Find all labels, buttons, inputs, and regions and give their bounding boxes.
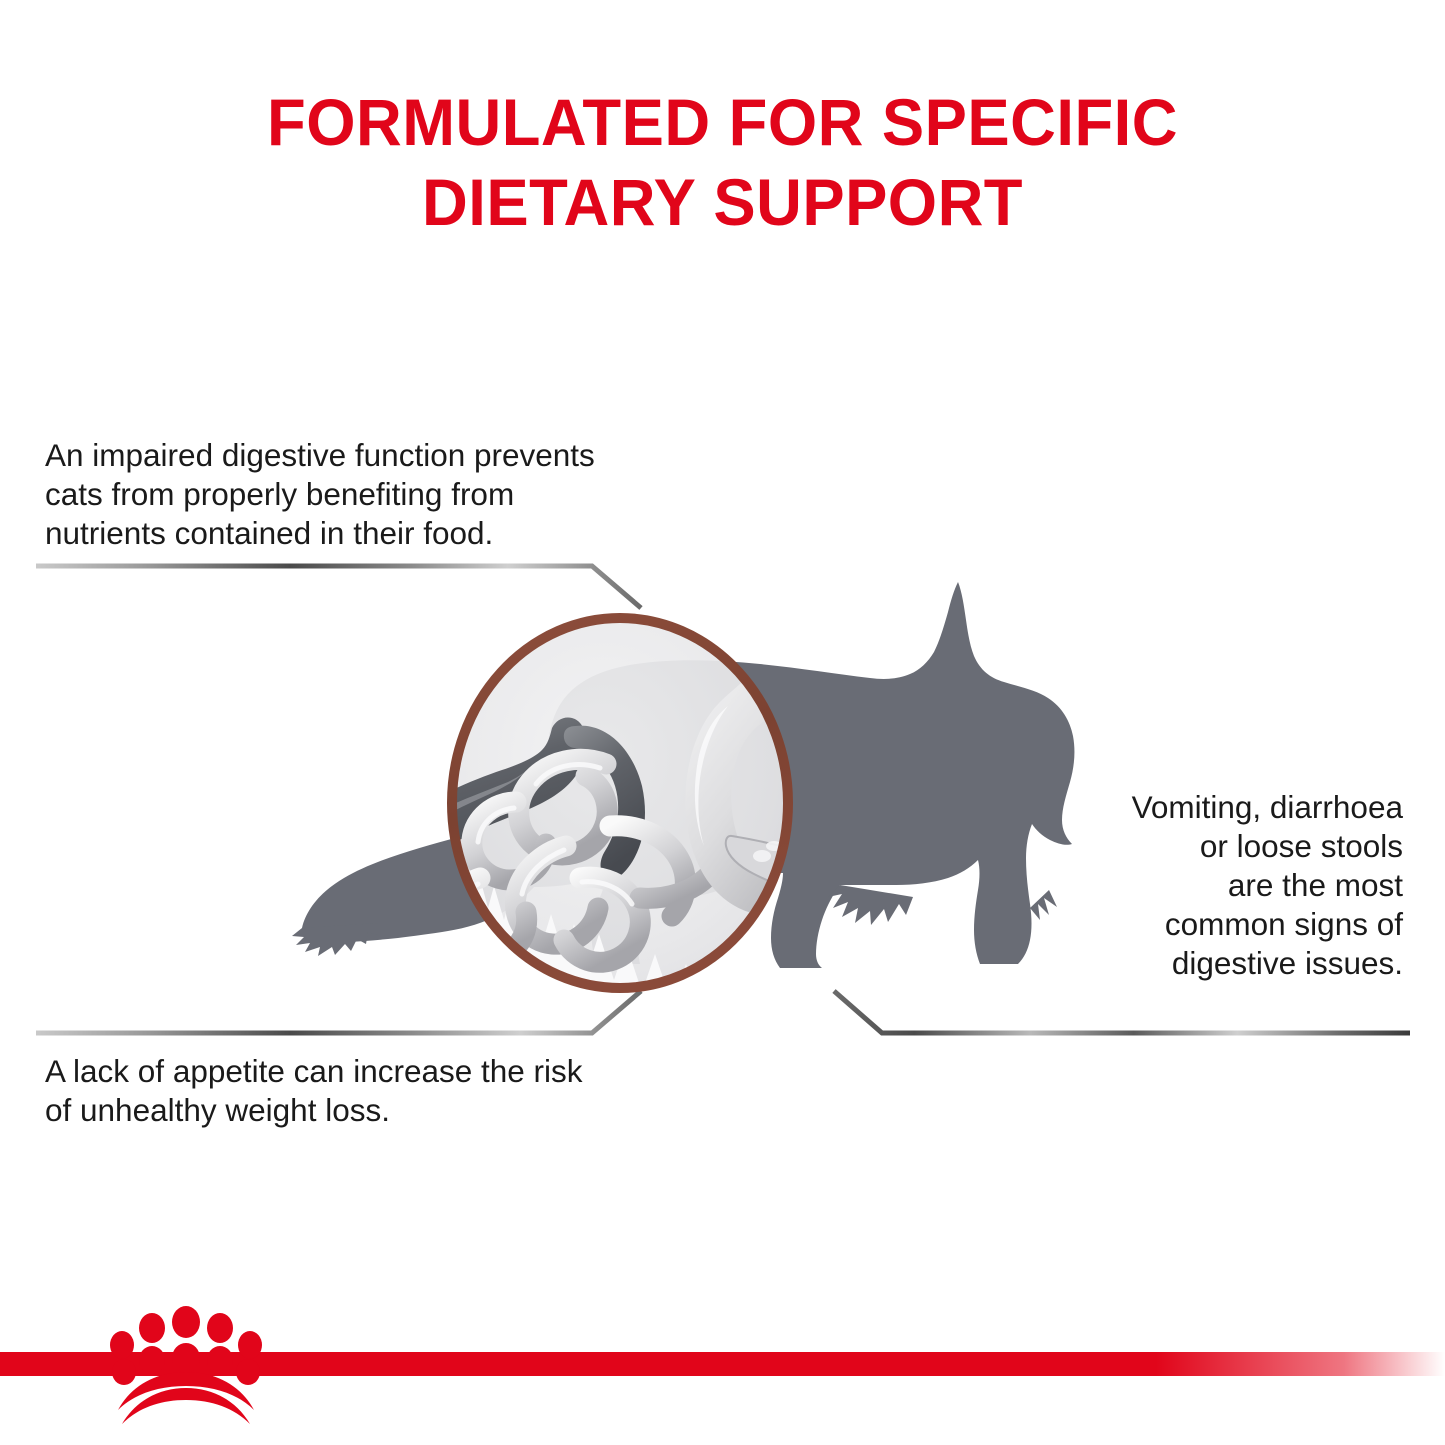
callout-common-signs: Vomiting, diarrhoea or loose stools are … (1003, 788, 1403, 983)
page-canvas: FORMULATED FOR SPECIFIC DIETARY SUPPORT (0, 0, 1445, 1445)
oesophagus-opening (773, 631, 787, 641)
royal-canin-crown-icon (96, 1300, 276, 1428)
callout-impaired-digestive-function: An impaired digestive function prevents … (45, 436, 765, 553)
callout-lack-of-appetite: A lack of appetite can increase the risk… (45, 1052, 765, 1130)
page-title: FORMULATED FOR SPECIFIC DIETARY SUPPORT (29, 82, 1416, 242)
cat-digestive-illustration (280, 578, 1090, 1038)
